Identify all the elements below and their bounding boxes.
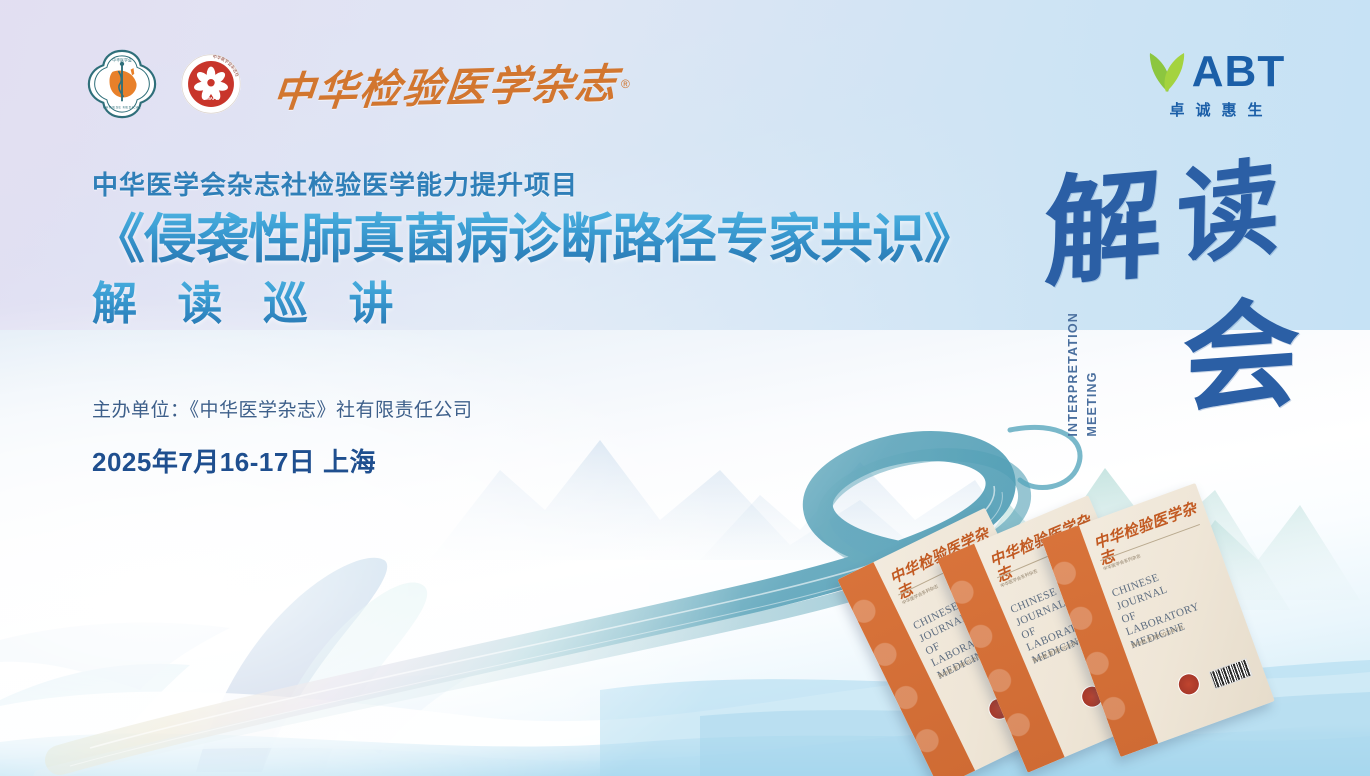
calligraphy-char-du: 读 bbox=[1176, 161, 1281, 268]
svg-text:CMAPH: CMAPH bbox=[203, 96, 219, 101]
registered-trademark-icon: ® bbox=[621, 77, 630, 91]
calligraphy-english-line1: INTERPRETATION bbox=[1066, 312, 1080, 437]
abt-chinese-name: 卓诚惠生 bbox=[1158, 99, 1273, 120]
svg-text:中华医学会: 中华医学会 bbox=[112, 58, 132, 63]
cmaph-logo: CMAPH 中华医学会杂志社 bbox=[180, 53, 242, 115]
cover-en-title: CHINESEJOURNALOFLABORATORYMEDICINE bbox=[1110, 553, 1231, 653]
calligraphy-char-jie: 解 bbox=[1043, 173, 1162, 290]
abt-sponsor-logo: ABT 卓诚惠生 bbox=[1136, 50, 1296, 120]
journal-wordmark-text: 中华检验医学杂志 bbox=[271, 50, 622, 119]
date-city-line: 2025年7月16-17日 上海 bbox=[92, 442, 1022, 479]
calligraphy-english-vertical: INTERPRETATION MEETING bbox=[1064, 312, 1102, 437]
svg-text:CHINESE MEDICAL: CHINESE MEDICAL bbox=[103, 105, 141, 109]
journal-wordmark: 中华检验医学杂志 ® bbox=[274, 52, 630, 116]
page-title: 《侵袭性肺真菌病诊断路径专家共识》 bbox=[92, 211, 1022, 268]
cover-barcode-icon bbox=[1209, 658, 1253, 690]
organizer-line: 主办单位：《中华医学杂志》社有限责任公司 bbox=[92, 395, 1022, 422]
journal-cover-stack: 中华检验医学杂志 中华医学会系列杂志 CHINESEJOURNALOFLABOR… bbox=[880, 498, 1310, 776]
header-logo-group: 中华医学会 CHINESE MEDICAL C bbox=[86, 48, 630, 120]
main-copy-block: 中华医学会杂志社检验医学能力提升项目 《侵袭性肺真菌病诊断路径专家共识》 解 读… bbox=[92, 170, 1022, 479]
abt-x-mark-icon bbox=[1147, 50, 1187, 94]
calligraphy-char-hui: 会 bbox=[1181, 302, 1301, 417]
calligraphy-badge: 解 读 会 INTERPRETATION MEETING bbox=[1040, 170, 1300, 450]
abt-brand-text: ABT bbox=[1192, 50, 1285, 94]
chinese-medical-association-logo: 中华医学会 CHINESE MEDICAL bbox=[86, 48, 158, 120]
ink-wash-mountains-left bbox=[0, 558, 470, 772]
program-kicker: 中华医学会杂志社检验医学能力提升项目 bbox=[92, 170, 1022, 201]
page-subtitle: 解 读 巡 讲 bbox=[92, 276, 1022, 332]
poster-canvas: 中华医学会 CHINESE MEDICAL C bbox=[0, 0, 1370, 776]
cover-seal-icon bbox=[1175, 670, 1203, 698]
calligraphy-english-line2: MEETING bbox=[1085, 371, 1099, 436]
